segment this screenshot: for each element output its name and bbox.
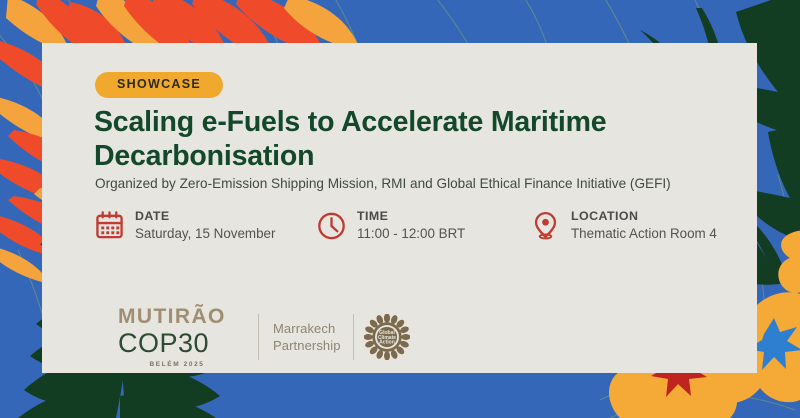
cop30-mutirao-text: MUTIRÃO bbox=[118, 306, 236, 327]
global-climate-action-seal-icon: Global Climate Action bbox=[364, 314, 410, 360]
detail-date-label: DATE bbox=[135, 209, 275, 223]
location-pin-icon bbox=[531, 210, 560, 241]
detail-location-value: Thematic Action Room 4 bbox=[571, 225, 717, 242]
cop30-city-year-text: BELÉM 2025 bbox=[118, 361, 236, 368]
marrakech-partnership-logo: Marrakech Partnership bbox=[273, 320, 341, 355]
detail-date: DATE Saturday, 15 November bbox=[95, 209, 275, 243]
detail-time-value: 11:00 - 12:00 BRT bbox=[357, 225, 465, 242]
detail-location: LOCATION Thematic Action Room 4 bbox=[531, 209, 717, 243]
logo-strip: MUTIRÃO COP30 BELÉM 2025 Marrakech Partn… bbox=[118, 306, 410, 368]
page-title: Scaling e-Fuels to Accelerate Maritime D… bbox=[94, 106, 714, 173]
detail-time-label: TIME bbox=[357, 209, 465, 223]
calendar-icon bbox=[95, 210, 124, 241]
organizers-text: Organized by Zero-Emission Shipping Miss… bbox=[95, 176, 755, 193]
event-details-row: DATE Saturday, 15 November TIME 11:00 - … bbox=[95, 209, 745, 255]
detail-location-text: LOCATION Thematic Action Room 4 bbox=[571, 209, 717, 243]
seal-line-3: Action bbox=[379, 340, 395, 346]
detail-time-text: TIME 11:00 - 12:00 BRT bbox=[357, 209, 465, 243]
logo-divider-2 bbox=[353, 314, 354, 360]
clock-icon bbox=[317, 210, 346, 241]
title-line-1: Scaling e-Fuels to Accelerate Maritime bbox=[94, 106, 606, 138]
detail-date-text: DATE Saturday, 15 November bbox=[135, 209, 275, 243]
showcase-badge: SHOWCASE bbox=[95, 72, 223, 98]
cop30-logo: MUTIRÃO COP30 BELÉM 2025 bbox=[118, 306, 236, 368]
marrakech-line-1: Marrakech bbox=[273, 320, 341, 338]
cop30-name-text: COP30 bbox=[118, 329, 236, 357]
event-banner: SHOWCASE Scaling e-Fuels to Accelerate M… bbox=[0, 0, 800, 418]
marrakech-line-2: Partnership bbox=[273, 337, 341, 355]
detail-date-value: Saturday, 15 November bbox=[135, 225, 275, 242]
detail-location-label: LOCATION bbox=[571, 209, 717, 223]
title-line-2: Decarbonisation bbox=[94, 140, 314, 172]
logo-divider-1 bbox=[258, 314, 259, 360]
detail-time: TIME 11:00 - 12:00 BRT bbox=[317, 209, 465, 243]
